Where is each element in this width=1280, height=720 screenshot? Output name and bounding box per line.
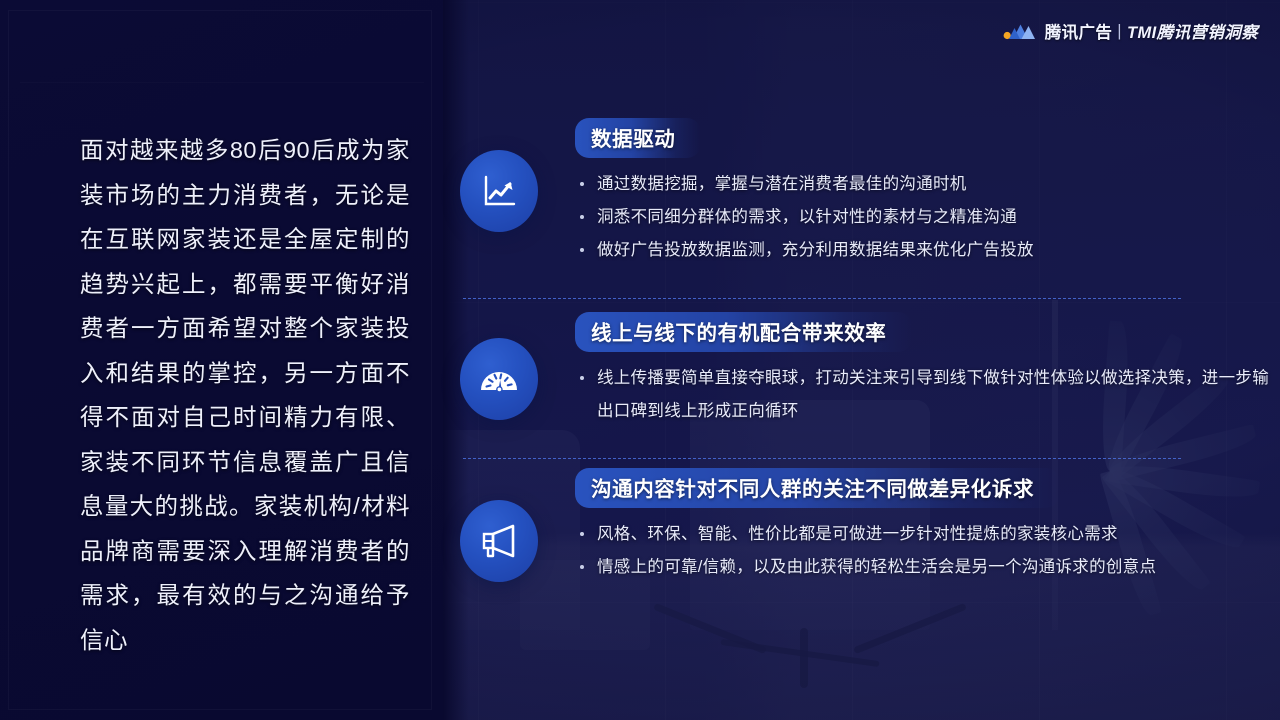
chart-uptrend-icon	[460, 150, 538, 232]
bullet-list: 风格、环保、智能、性价比都是可做进一步针对性提炼的家装核心需求 情感上的可靠/信…	[575, 518, 1275, 584]
bullet-text: 线上传播要简单直接夺眼球，打动关注来引导到线下做针对性体验以做选择决策，进一步输…	[597, 369, 1269, 420]
speedometer-gauge-icon	[460, 338, 538, 420]
bullet-dot-icon	[580, 248, 584, 252]
block-title: 线上与线下的有机配合带来效率	[575, 312, 912, 352]
list-item: 线上传播要简单直接夺眼球，打动关注来引导到线下做针对性体验以做选择决策，进一步输…	[575, 362, 1275, 428]
bullet-text: 做好广告投放数据监测，充分利用数据结果来优化广告投放	[597, 241, 1034, 259]
section-divider	[463, 458, 1181, 459]
list-item: 洞悉不同细分群体的需求，以针对性的素材与之精准沟通	[575, 201, 1275, 234]
bullet-text: 通过数据挖掘，掌握与潜在消费者最佳的沟通时机	[597, 175, 967, 193]
bullet-text: 情感上的可靠/信赖，以及由此获得的轻松生活会是另一个沟通诉求的创意点	[597, 558, 1156, 576]
bullet-list: 通过数据挖掘，掌握与潜在消费者最佳的沟通时机 洞悉不同细分群体的需求，以针对性的…	[575, 168, 1275, 267]
list-item: 通过数据挖掘，掌握与潜在消费者最佳的沟通时机	[575, 168, 1275, 201]
list-item: 风格、环保、智能、性价比都是可做进一步针对性提炼的家装核心需求	[575, 518, 1275, 551]
bullet-dot-icon	[580, 532, 584, 536]
bullet-text: 风格、环保、智能、性价比都是可做进一步针对性提炼的家装核心需求	[597, 525, 1118, 543]
bullet-dot-icon	[580, 215, 584, 219]
bullet-dot-icon	[580, 565, 584, 569]
slide-root: 面对越来越多80后90后成为家装市场的主力消费者，无论是在互联网家装还是全屋定制…	[0, 0, 1280, 720]
megaphone-icon	[460, 500, 538, 582]
left-panel: 面对越来越多80后90后成为家装市场的主力消费者，无论是在互联网家装还是全屋定制…	[0, 0, 443, 720]
section-divider	[463, 298, 1181, 299]
summary-paragraph: 面对越来越多80后90后成为家装市场的主力消费者，无论是在互联网家装还是全屋定制…	[80, 128, 410, 662]
bullet-list: 线上传播要简单直接夺眼球，打动关注来引导到线下做针对性体验以做选择决策，进一步输…	[575, 362, 1275, 428]
block-title: 沟通内容针对不同人群的关注不同做差异化诉求	[575, 468, 1060, 508]
list-item: 情感上的可靠/信赖，以及由此获得的轻松生活会是另一个沟通诉求的创意点	[575, 551, 1275, 584]
bullet-text: 洞悉不同细分群体的需求，以针对性的素材与之精准沟通	[597, 208, 1017, 226]
content-blocks: 数据驱动 通过数据挖掘，掌握与潜在消费者最佳的沟通时机 洞悉不同细分群体的需求，…	[443, 0, 1280, 720]
bullet-dot-icon	[580, 182, 584, 186]
list-item: 做好广告投放数据监测，充分利用数据结果来优化广告投放	[575, 234, 1275, 267]
bullet-dot-icon	[580, 376, 584, 380]
left-panel-rule	[20, 82, 424, 83]
block-title: 数据驱动	[575, 118, 701, 158]
